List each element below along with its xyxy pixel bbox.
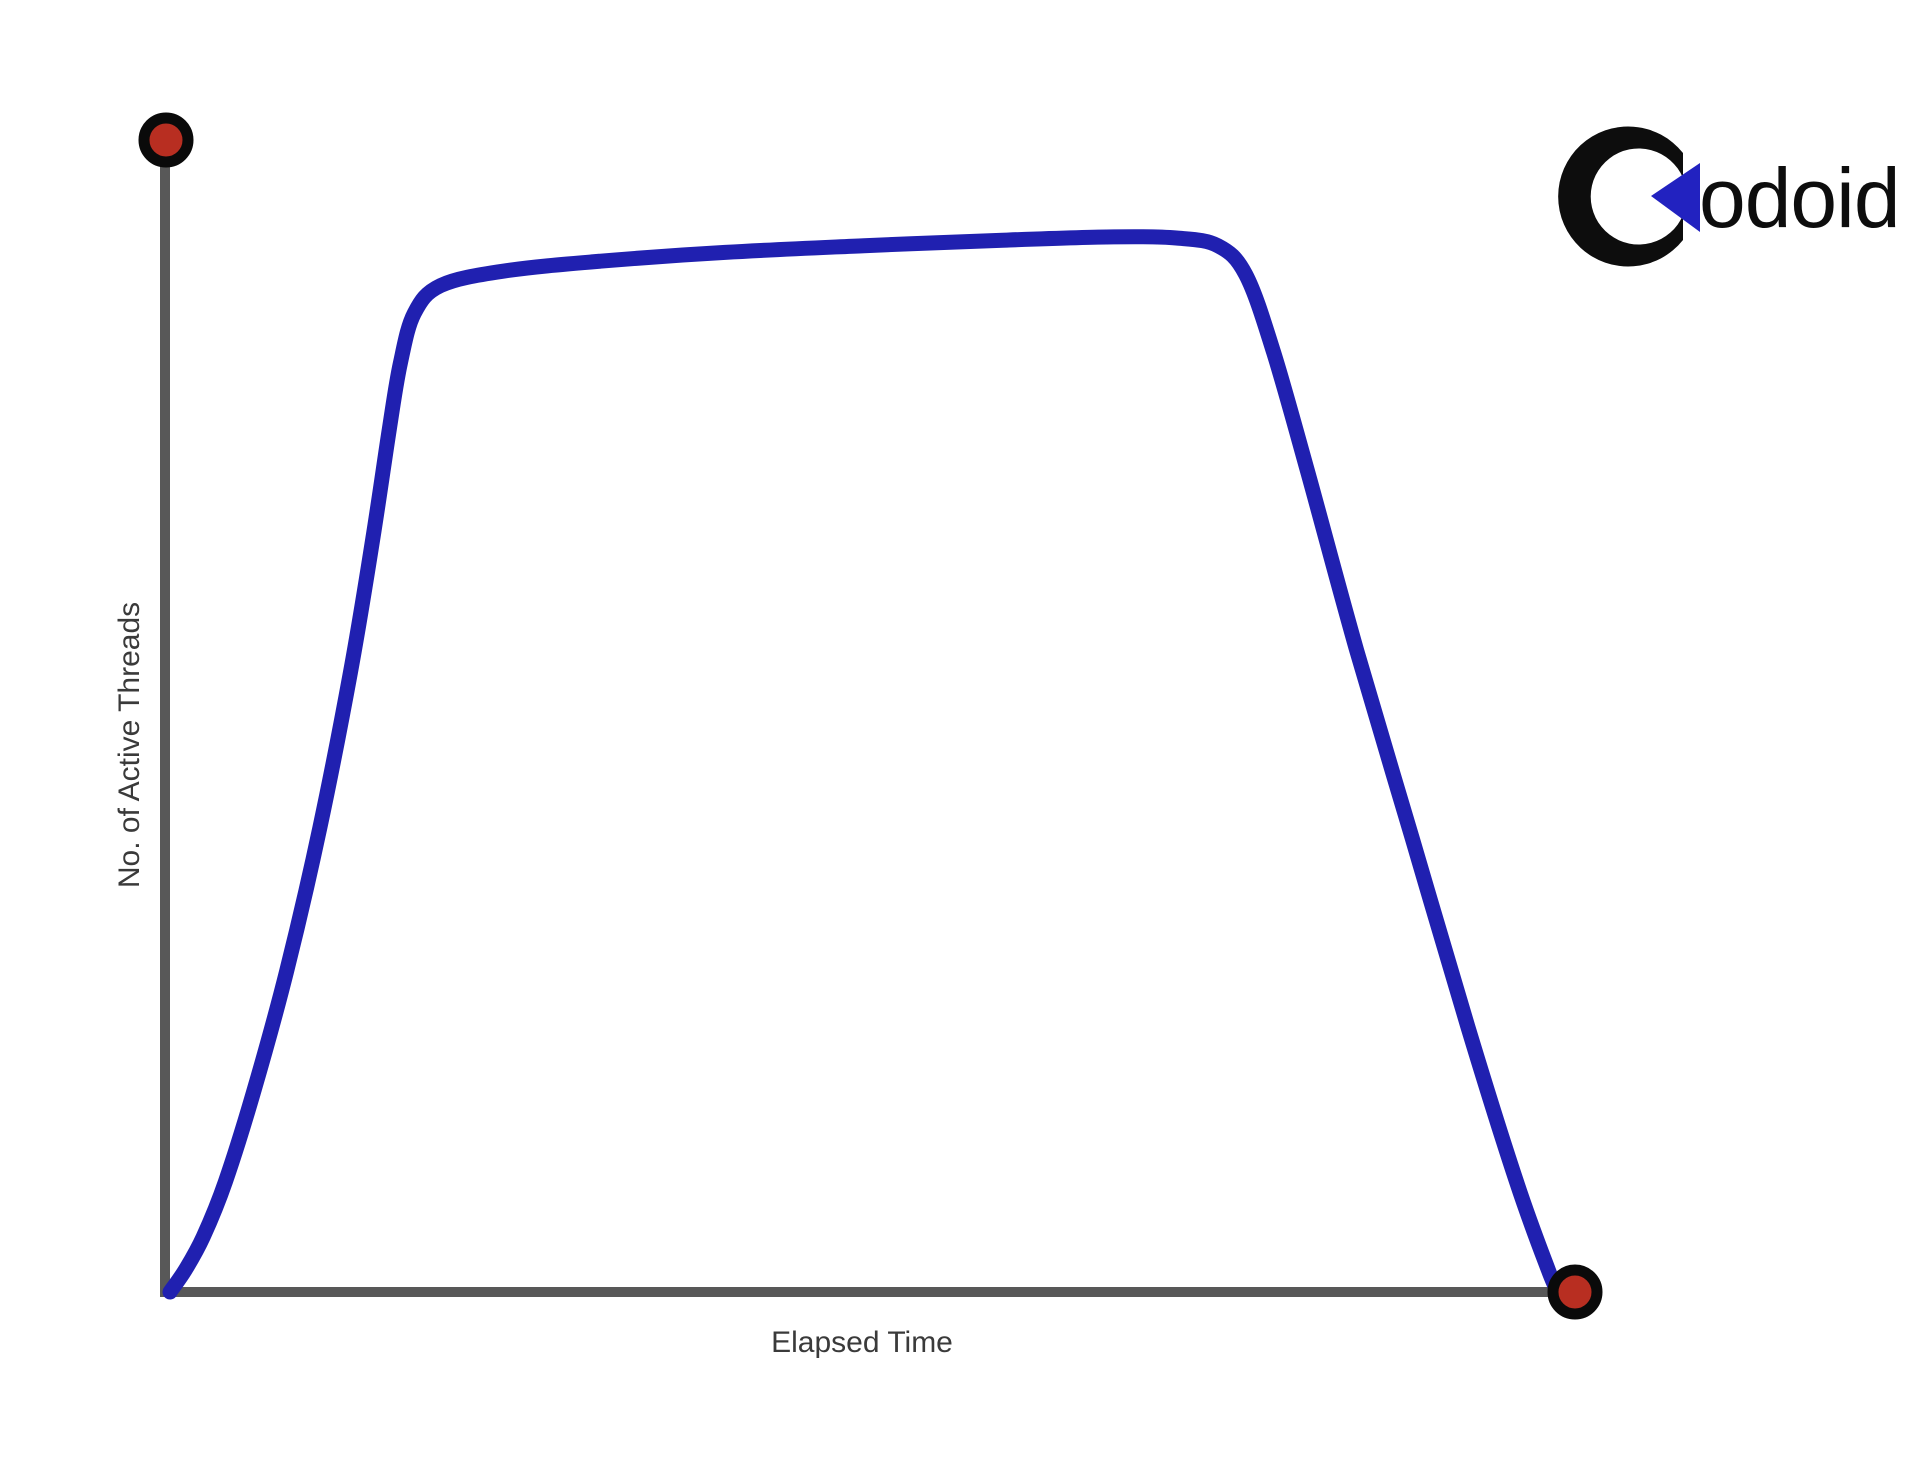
x-axis-label: Elapsed Time <box>771 1326 953 1359</box>
axis-top-marker <box>144 118 188 162</box>
y-axis-label: No. of Active Threads <box>113 602 146 888</box>
thread-profile-chart: No. of Active Threads Elapsed Time odoid <box>0 0 1909 1469</box>
ramp-down-end-marker <box>1553 1270 1597 1314</box>
chart-background <box>0 0 1909 1469</box>
codoid-wordmark: odoid <box>1699 151 1900 245</box>
chart-canvas: No. of Active Threads Elapsed Time odoid <box>0 0 1909 1469</box>
